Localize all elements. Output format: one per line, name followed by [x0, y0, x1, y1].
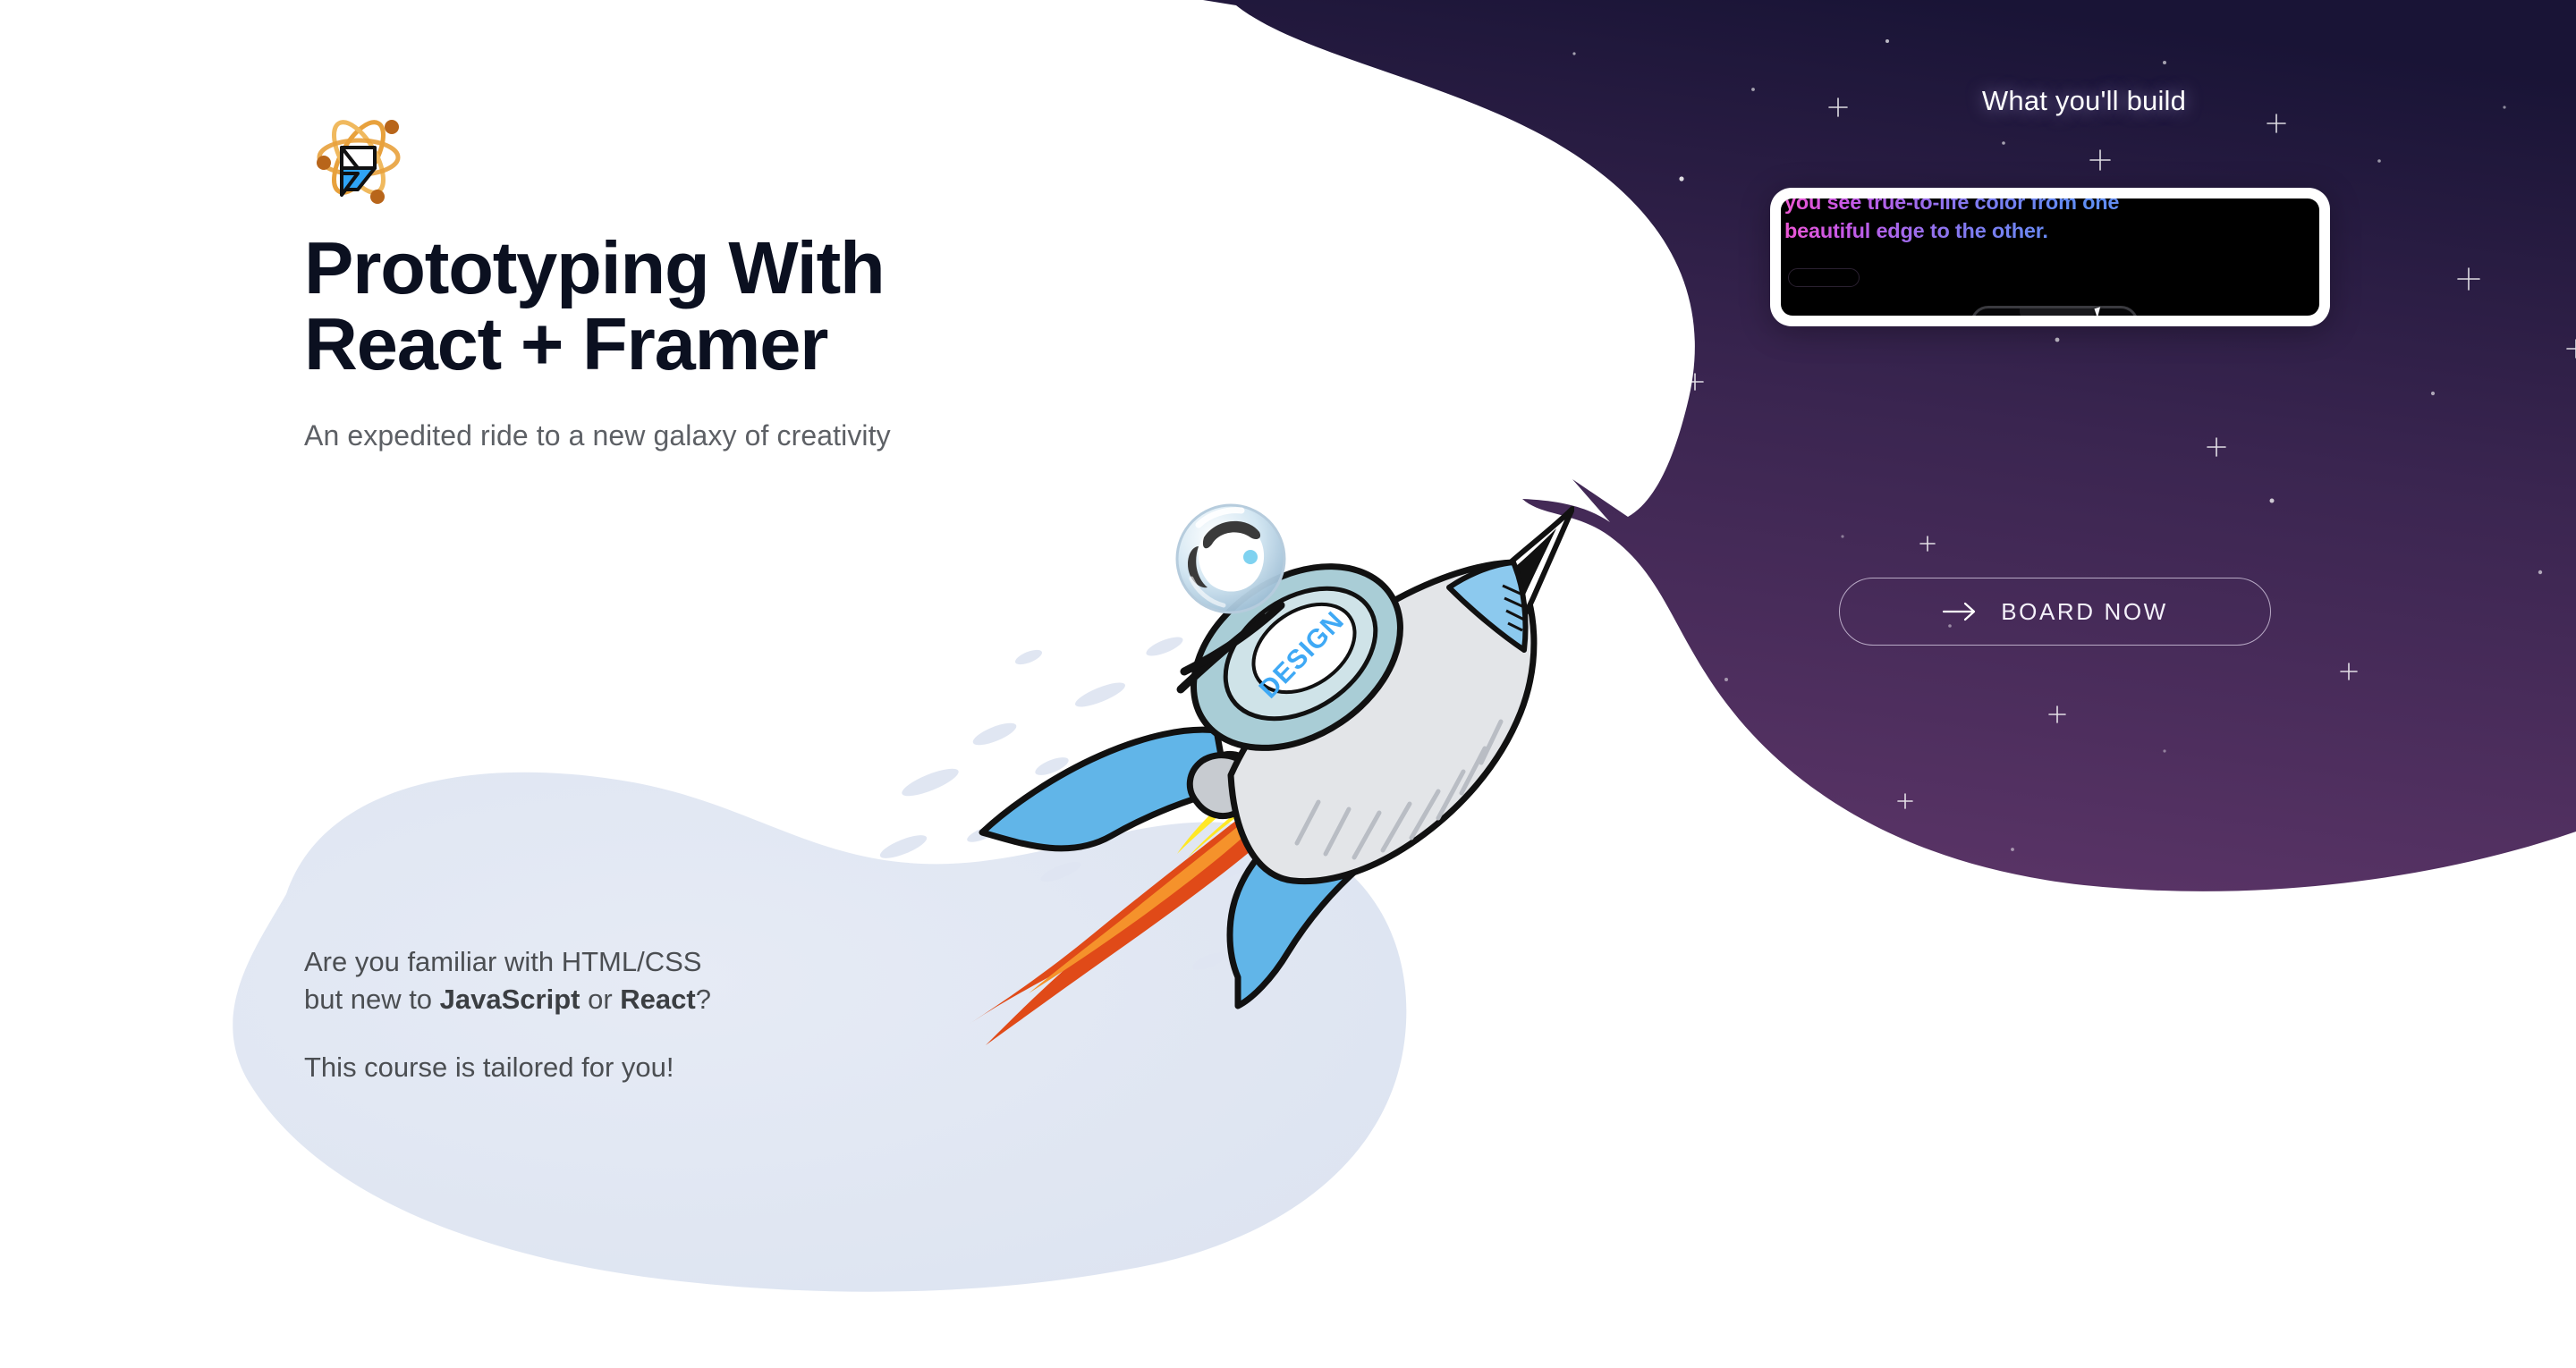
page-title: Prototyping With React + Framer — [304, 231, 1306, 382]
landing-page: Prototyping With React + Framer An exped… — [0, 0, 2576, 1368]
promo-text-block: Are you familiar with HTML/CSS but new t… — [304, 943, 984, 1086]
space-panel-content: What you'll build — [1771, 0, 2397, 117]
arrow-right-icon — [1942, 601, 1978, 622]
promo-spacer — [304, 1018, 984, 1049]
preview-phone-mockup — [1970, 306, 2139, 316]
framer-mark-icon — [342, 148, 375, 195]
promo-react: React — [620, 984, 695, 1015]
preview-body-text: advanced LCD in the industry. An innovat… — [1784, 198, 2161, 242]
preview-screen: display on iPhone XR is the most advance… — [1781, 198, 2319, 316]
react-framer-logo — [304, 106, 413, 211]
promo-line-2: but new to JavaScript or React? — [304, 981, 984, 1018]
promo-line-2-a: but new to — [304, 984, 440, 1015]
build-section-title: What you'll build — [1771, 85, 2397, 117]
preview-copy-text: display on iPhone XR is the most advance… — [1781, 198, 2173, 245]
page-subtitle: An expedited ride to a new galaxy of cre… — [304, 419, 1306, 452]
board-now-button[interactable]: BOARD NOW — [1839, 578, 2271, 646]
logo-svg — [304, 106, 413, 211]
preview-learn-more-pill — [1788, 268, 1860, 287]
promo-line-2-c: or — [580, 984, 620, 1015]
what-youll-build-preview[interactable]: display on iPhone XR is the most advance… — [1770, 188, 2330, 326]
promo-javascript: JavaScript — [440, 984, 580, 1015]
promo-line-2-e: ? — [696, 984, 711, 1015]
promo-line-1: Are you familiar with HTML/CSS — [304, 943, 984, 981]
hero-left-column: Prototyping With React + Framer An exped… — [304, 106, 1306, 452]
board-now-label: BOARD NOW — [2001, 598, 2168, 626]
promo-line-3: This course is tailored for you! — [304, 1049, 984, 1086]
